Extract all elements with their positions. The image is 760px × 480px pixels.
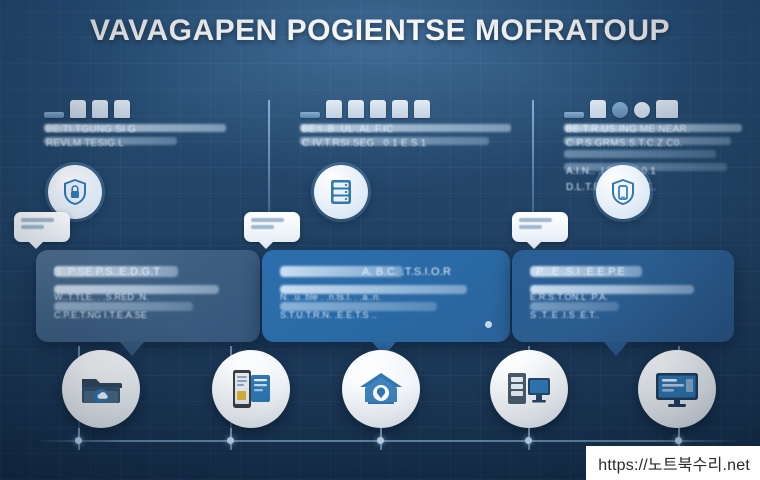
file-icon [92,100,108,118]
column-heading-2: BE:I..B..UL .AL.F.IC C.IV.T.RSI.SEG...0.… [300,96,515,150]
callout-bubble-3[interactable] [512,212,568,242]
briefcase-icon [612,102,628,118]
callout-line [21,225,44,229]
file-icon [392,100,408,118]
heading-line [300,137,489,145]
panel-2[interactable]: A. B.C. .T.S.I.O.R N. .u..ble . .n.ts.l.… [262,250,510,342]
bottom-icon-circle-2[interactable] [212,350,290,428]
column-heading-1: BE:TI.TGUNG SI G REVLM TESIG.L [44,96,234,150]
panel-2-body-line [280,285,467,294]
panel-3-body-line [530,302,619,311]
list-icon [564,112,584,118]
shield-lock-icon [62,178,88,206]
chart-bar-icon [44,112,64,118]
panel-2-body-2: S.T.U.T.R.N. .E.E.T.S .. [280,310,377,320]
heading-line [564,163,727,171]
file-icon [114,100,130,118]
shield-phone-icon [610,178,636,206]
document-icon [656,100,678,118]
callout-bubble-1[interactable] [14,212,70,242]
home-shield-icon [358,370,404,408]
column-3-mini-icons [564,96,749,118]
folder-cloud-icon [78,369,124,409]
heading-line [300,124,511,132]
timeline-spine [40,440,736,442]
heading-line [564,124,742,132]
panel-1-tail [120,342,144,356]
file-icon [70,100,86,118]
bottom-icon-circle-1[interactable] [62,350,140,428]
panel-3[interactable]: P. .E .S.I .E.E.P.E E.R.S.T.ON.L .P.A. S… [512,250,734,342]
column-2-mini-icons [300,96,515,118]
watermark-banner: https://노트북수리.net [586,446,760,480]
callout-line [21,218,54,222]
panel-1-body-line [54,302,193,311]
panel-2-title-line [280,266,403,277]
server-rack-icon [328,178,354,206]
list-icon [300,112,320,118]
panel-1-body-2: C.P.E.T.NG I.T.E.A.SE [54,310,147,320]
timeline-node [227,437,234,444]
file-icon [326,100,342,118]
timeline-node [675,437,682,444]
callout-line [251,218,284,222]
panel-1[interactable]: S..P.SE P.S..E.D.G.T W..T.TLE. . .S.RED … [36,250,260,342]
file-icon [348,100,364,118]
person-icon [634,102,650,118]
panel-3-title-line [530,266,642,277]
heading-line [44,124,226,132]
panel-3-body-2: S .T..E .I.S .E.T.. [530,310,599,320]
panel-3-body-line [530,285,694,294]
file-icon [370,100,386,118]
watermark-text: https://노트북수리.net [598,451,750,475]
badge-shield-phone[interactable] [596,165,650,219]
timeline-node [377,437,384,444]
file-icon [414,100,430,118]
panel-1-title-line [54,266,178,277]
column-1-mini-icons [44,96,234,118]
bottom-icon-circle-3[interactable] [342,350,420,428]
panel-2-dot-marker [485,321,492,328]
bottom-icon-circle-5[interactable] [638,350,716,428]
heading-line [564,137,731,145]
badge-server-rack[interactable] [314,165,368,219]
server-monitor-icon [505,369,553,409]
callout-line [251,225,274,229]
heading-line [44,137,177,145]
panel-1-body-line [54,285,219,294]
bottom-icon-circle-4[interactable] [490,350,568,428]
callout-line [519,218,552,222]
panel-3-tail [604,342,628,356]
heading-line [564,150,716,158]
timeline-node [525,437,532,444]
callout-line [519,225,542,229]
column-heading-3: BE.T.R.US.ING ME NEAR. C.P.S.GRMS.S.T.C.… [564,96,749,176]
file-icon [590,100,606,118]
tablet-document-icon [229,367,273,411]
callout-bubble-2[interactable] [244,212,300,242]
panel-2-body-line [280,302,437,311]
badge-shield-lock[interactable] [48,165,102,219]
page-title: VAVAGAΡEN ΡOGIENTSE MOFRATOUP [0,14,760,48]
desktop-monitor-icon [653,369,701,409]
infographic-canvas: VAVAGAΡEN ΡOGIENTSE MOFRATOUP BE:TI.TGUN… [0,0,760,480]
timeline-node [75,437,82,444]
